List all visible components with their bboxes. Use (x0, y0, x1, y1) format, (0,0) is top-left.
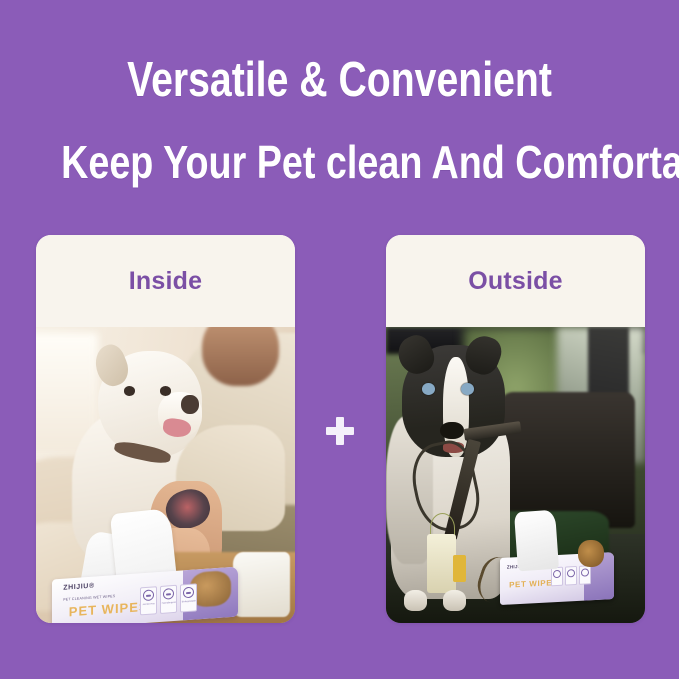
no-alcohol-icon (553, 569, 561, 577)
collie-paw-right (443, 590, 466, 611)
paw-icon (567, 569, 575, 577)
badge-caption: Hypoallergenic (161, 601, 175, 605)
wipe-sheet-pulled (513, 509, 558, 571)
promo-poster: Versatile & Convenient Keep Your Pet cle… (0, 0, 679, 679)
page-subtitle: Keep Your Pet clean And Comfortable (61, 136, 618, 188)
pack-product-name: PET WIPES (68, 599, 148, 620)
collie-paw-left (404, 590, 427, 611)
paw-icon (163, 588, 174, 600)
badge-hypoallergenic (565, 566, 577, 585)
badge-caption: Biodegradable (182, 599, 196, 603)
page-title: Versatile & Convenient (68, 52, 611, 108)
badge-biodegradable: Biodegradable (180, 583, 197, 612)
plus-icon (320, 411, 360, 451)
card-inside: Inside (36, 235, 295, 623)
card-outside: Outside (386, 235, 645, 623)
badge-caption: Alcohol Free (142, 602, 154, 606)
white-dog-eye-left (124, 386, 135, 395)
pack-badge-group: Alcohol Free Hypoallergenic Biodegradabl… (140, 583, 197, 615)
card-inside-label: Inside (129, 267, 202, 296)
badge-hypoallergenic: Hypoallergenic (160, 584, 177, 613)
no-alcohol-icon (143, 589, 154, 601)
badge-alcohol-free (551, 567, 563, 586)
man-head (202, 327, 280, 386)
headline-block: Versatile & Convenient Keep Your Pet cle… (0, 52, 679, 188)
collie-nose (440, 422, 463, 440)
recycle-icon (183, 586, 194, 598)
poop-bag-dispenser (427, 534, 455, 593)
dog-treat (578, 540, 604, 567)
white-dog-nose (181, 395, 199, 414)
recycle-icon (581, 568, 589, 576)
pack-brand-name: ZHIJIU® (63, 582, 95, 591)
card-outside-label: Outside (468, 267, 562, 296)
white-dog-eye-right (160, 386, 171, 395)
car-seat (500, 392, 635, 528)
badge-alcohol-free: Alcohol Free (140, 586, 157, 615)
pack-badge-group (551, 565, 591, 586)
plus-vertical-bar (336, 417, 344, 445)
dispenser-clip (453, 555, 466, 582)
card-outside-header: Outside (386, 235, 645, 327)
tissue-pile (233, 552, 290, 617)
pack-tagline: PET CLEANING WET WIPES (63, 594, 115, 602)
badge-biodegradable (579, 565, 591, 584)
photo-inside-scene: ZHIJIU® PET CLEANING WET WIPES PET WIPES… (36, 327, 295, 623)
photo-outside-scene: ZHIJIU® PET WIPES (386, 327, 645, 623)
card-inside-header: Inside (36, 235, 295, 327)
